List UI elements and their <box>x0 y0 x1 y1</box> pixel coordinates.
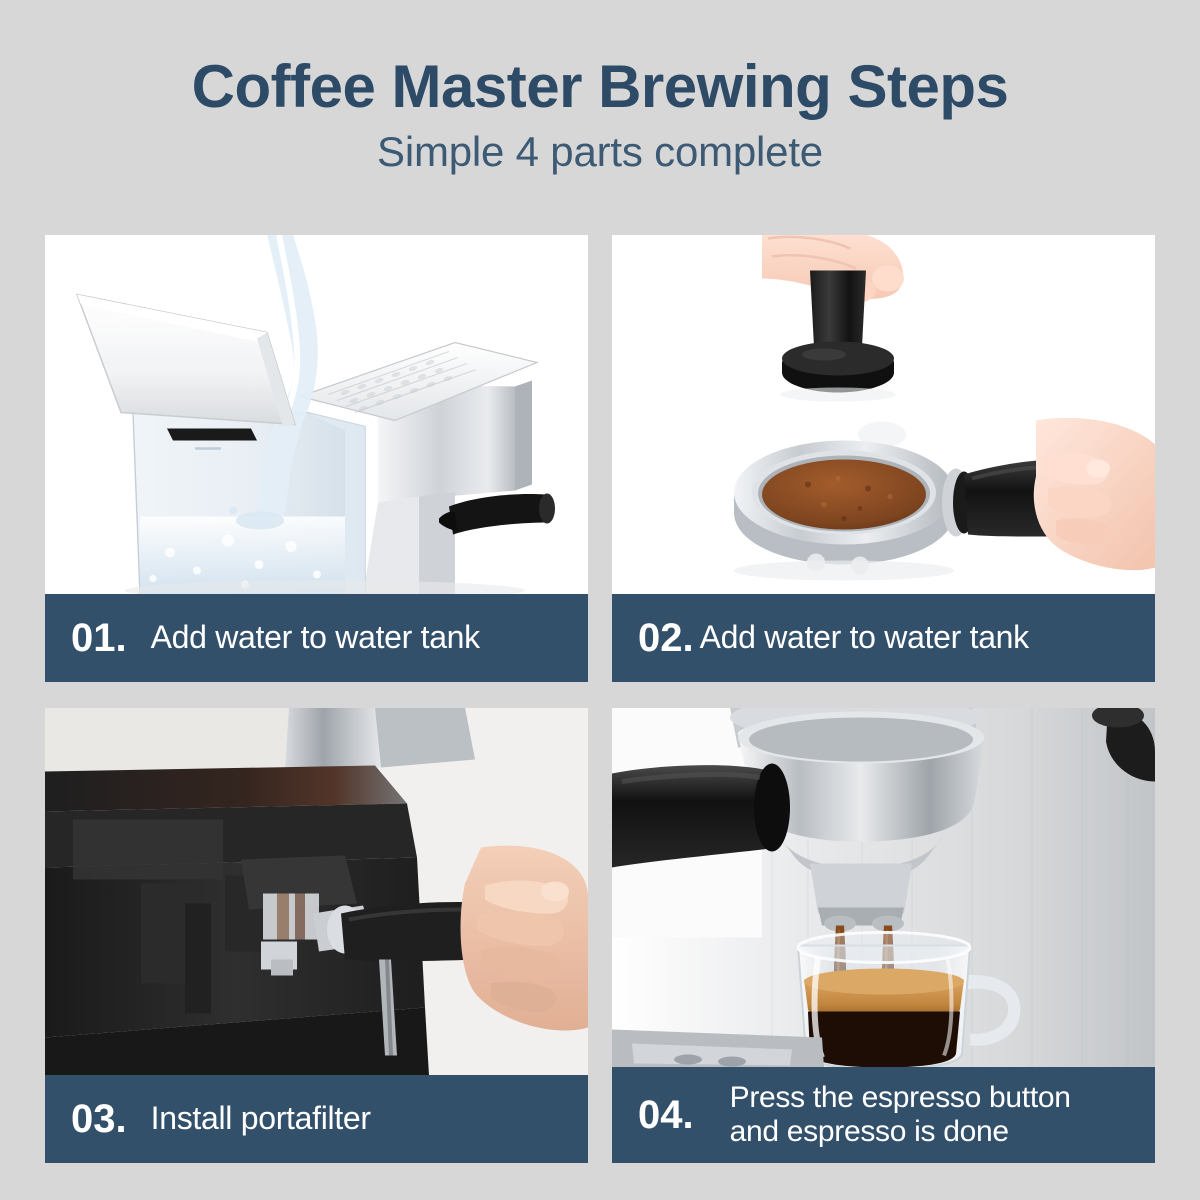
step-photo-02 <box>612 235 1155 594</box>
step-photo-01 <box>45 235 588 594</box>
page-subtitle: Simple 4 parts complete <box>0 128 1200 176</box>
step-card-02[interactable]: 02. Add water to water tank <box>612 235 1155 682</box>
step-number-02: 02. <box>638 616 694 661</box>
step-number-01: 01. <box>71 616 127 661</box>
step-caption-04: 04. Press the espresso button and espres… <box>612 1067 1155 1163</box>
infographic-page: Coffee Master Brewing Steps Simple 4 par… <box>0 0 1200 1200</box>
step-card-04[interactable]: 04. Press the espresso button and espres… <box>612 708 1155 1163</box>
step-photo-03 <box>45 708 588 1075</box>
espresso-extraction-illustration <box>612 708 1155 1067</box>
step-number-04: 04. <box>638 1093 694 1138</box>
step-label-02: Add water to water tank <box>700 620 1029 656</box>
step-card-03[interactable]: 03. Install portafilter <box>45 708 588 1163</box>
installing-portafilter-illustration <box>45 708 588 1075</box>
step-number-03: 03. <box>71 1097 127 1142</box>
steps-grid: 01. Add water to water tank <box>45 235 1155 1163</box>
step-label-04-line2: and espresso is done <box>730 1115 1009 1148</box>
page-title: Coffee Master Brewing Steps <box>0 55 1200 118</box>
step-label-04-line1: Press the espresso button <box>730 1081 1071 1114</box>
header: Coffee Master Brewing Steps Simple 4 par… <box>0 0 1200 176</box>
step-caption-02: 02. Add water to water tank <box>612 594 1155 682</box>
step-label-01: Add water to water tank <box>151 620 480 656</box>
espresso-machine-water-tank-illustration <box>45 235 588 594</box>
step-label-04: Press the espresso button and espresso i… <box>730 1081 1071 1148</box>
hand-tamping-portafilter-illustration <box>612 235 1155 594</box>
step-caption-03: 03. Install portafilter <box>45 1075 588 1163</box>
step-photo-04 <box>612 708 1155 1067</box>
step-caption-01: 01. Add water to water tank <box>45 594 588 682</box>
step-label-03: Install portafilter <box>151 1101 371 1137</box>
step-card-01[interactable]: 01. Add water to water tank <box>45 235 588 682</box>
